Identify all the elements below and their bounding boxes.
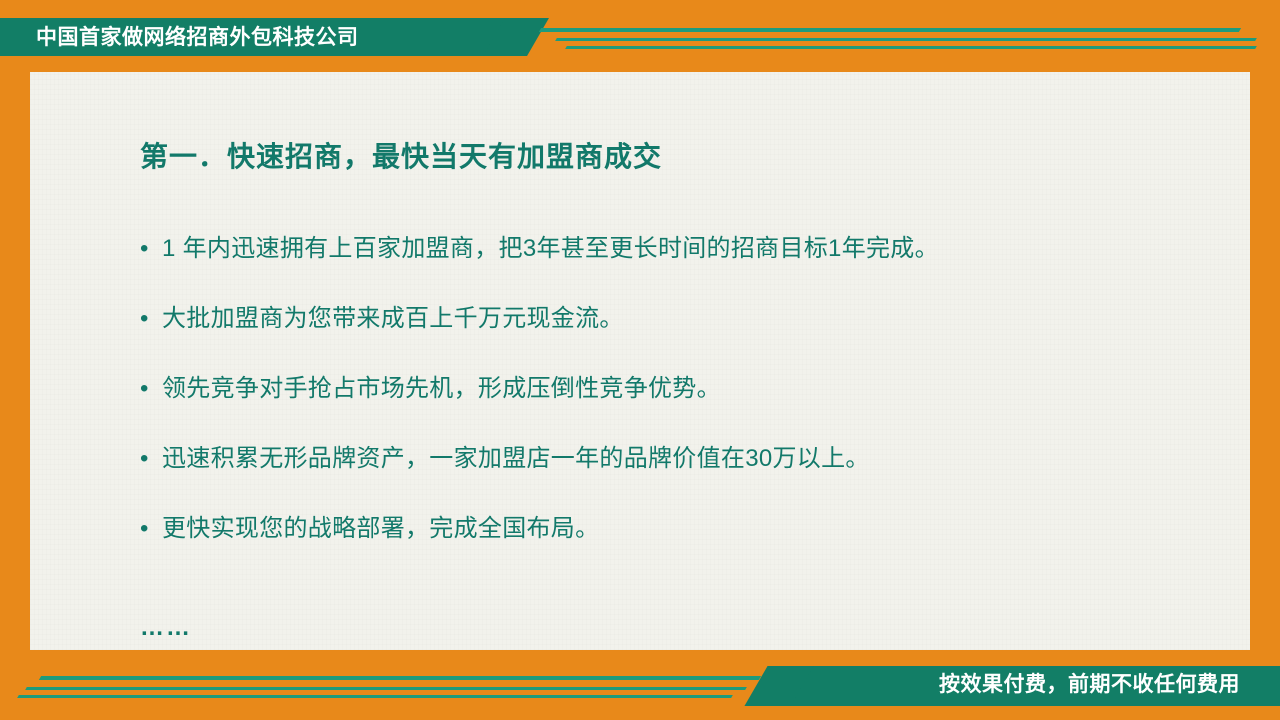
- footer-stripe-1: [39, 676, 761, 680]
- header-title: 中国首家做网络招商外包科技公司: [36, 24, 506, 52]
- list-item: • 领先竞争对手抢占市场先机，形成压倒性竞争优势。: [140, 372, 1220, 406]
- list-item: • 更快实现您的战略部署，完成全国布局。: [140, 512, 1220, 546]
- slide: 中国首家做网络招商外包科技公司 第一．快速招商，最快当天有加盟商成交 • 1 年…: [0, 0, 1280, 720]
- header-stripe-1: [539, 28, 1241, 32]
- list-item: • 1 年内迅速拥有上百家加盟商，把3年甚至更长时间的招商目标1年完成。: [140, 232, 1220, 266]
- list-item: • 迅速积累无形品牌资产，一家加盟店一年的品牌价值在30万以上。: [140, 442, 1220, 476]
- footer-stripe-3: [17, 695, 733, 698]
- list-item-text: 更快实现您的战略部署，完成全国布局。: [162, 512, 599, 546]
- list-item-text: 1 年内迅速拥有上百家加盟商，把3年甚至更长时间的招商目标1年完成。: [162, 232, 939, 266]
- bullet-icon: •: [140, 232, 162, 266]
- list-item-text: 迅速积累无形品牌资产，一家加盟店一年的品牌价值在30万以上。: [162, 442, 870, 476]
- ellipsis-text: ……: [140, 614, 192, 642]
- list-item-text: 领先竞争对手抢占市场先机，形成压倒性竞争优势。: [162, 372, 721, 406]
- bullet-list: • 1 年内迅速拥有上百家加盟商，把3年甚至更长时间的招商目标1年完成。 • 大…: [140, 232, 1220, 582]
- page-title: 第一．快速招商，最快当天有加盟商成交: [140, 135, 662, 175]
- slide-header-bar: 中国首家做网络招商外包科技公司: [0, 0, 1280, 72]
- list-item-text: 大批加盟商为您带来成百上千万元现金流。: [162, 302, 624, 336]
- bullet-icon: •: [140, 442, 162, 476]
- header-stripe-3: [565, 46, 1257, 49]
- list-item: • 大批加盟商为您带来成百上千万元现金流。: [140, 302, 1220, 336]
- slide-footer-bar: 按效果付费，前期不收任何费用: [0, 648, 1280, 720]
- footer-stripe-2: [25, 687, 747, 690]
- bullet-icon: •: [140, 302, 162, 336]
- footer-tagline: 按效果付费，前期不收任何费用: [939, 672, 1240, 698]
- header-stripe-2: [555, 38, 1257, 41]
- bullet-icon: •: [140, 372, 162, 406]
- bullet-icon: •: [140, 512, 162, 546]
